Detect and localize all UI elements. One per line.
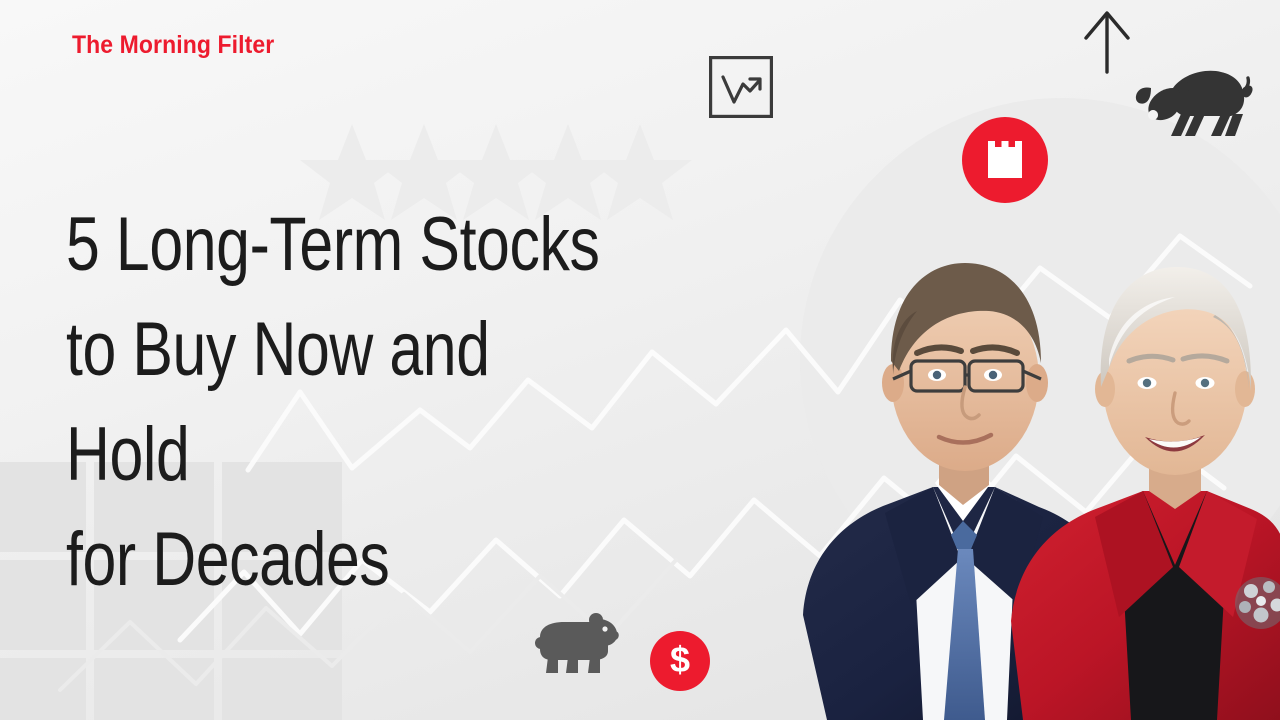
chart-trend-up-icon bbox=[709, 56, 773, 123]
calendar-badge bbox=[962, 117, 1048, 203]
thumbnail-canvas: The Morning Filter 5 Long-Term Stocks to… bbox=[0, 0, 1280, 720]
page-title: 5 Long-Term Stocks to Buy Now and Hold f… bbox=[66, 192, 626, 612]
bull-icon bbox=[1131, 58, 1255, 143]
calendar-icon bbox=[985, 139, 1025, 181]
arrow-up-icon bbox=[1081, 8, 1133, 79]
bear-icon bbox=[534, 613, 620, 678]
hosts-photo bbox=[695, 135, 1280, 720]
dollar-sign-icon: $ bbox=[670, 642, 690, 678]
dollar-badge: $ bbox=[650, 631, 710, 691]
host-right-figure bbox=[1011, 267, 1280, 720]
brand-title: The Morning Filter bbox=[72, 31, 274, 60]
